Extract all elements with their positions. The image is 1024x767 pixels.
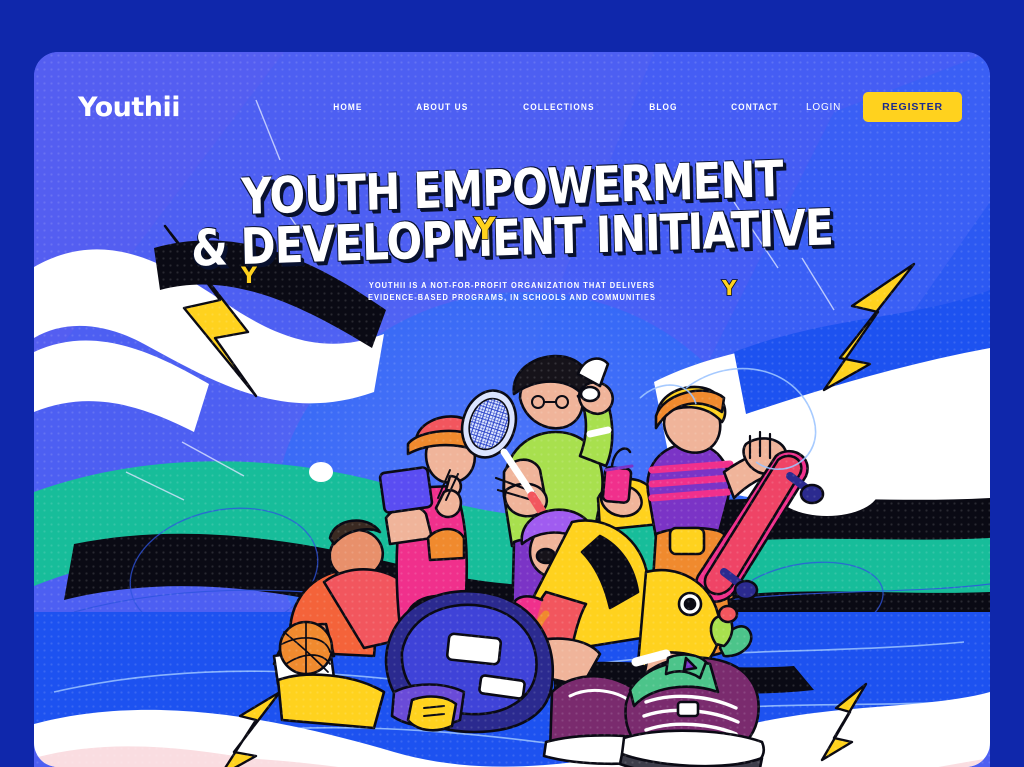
register-button[interactable]: REGISTER — [863, 92, 962, 122]
nav-item-collections[interactable]: COLLECTIONS — [524, 102, 595, 112]
nav-item-about-us[interactable]: ABOUT US — [416, 102, 468, 112]
nav-item-contact[interactable]: CONTACT — [731, 102, 779, 112]
main-nav: HOME ABOUT US COLLECTIONS BLOG CONTACT — [332, 102, 781, 112]
nav-item-home[interactable]: HOME — [333, 102, 362, 112]
logo[interactable]: Youthii — [78, 92, 180, 123]
site-header: Youthii HOME ABOUT US COLLECTIONS BLOG C… — [34, 52, 990, 162]
login-link[interactable]: LOGIN — [806, 102, 841, 113]
page-root: Youthii HOME ABOUT US COLLECTIONS BLOG C… — [0, 0, 1024, 767]
hero-card: Youthii HOME ABOUT US COLLECTIONS BLOG C… — [34, 52, 990, 767]
auth-actions: LOGIN REGISTER — [806, 92, 962, 122]
nav-item-blog[interactable]: BLOG — [649, 102, 677, 112]
